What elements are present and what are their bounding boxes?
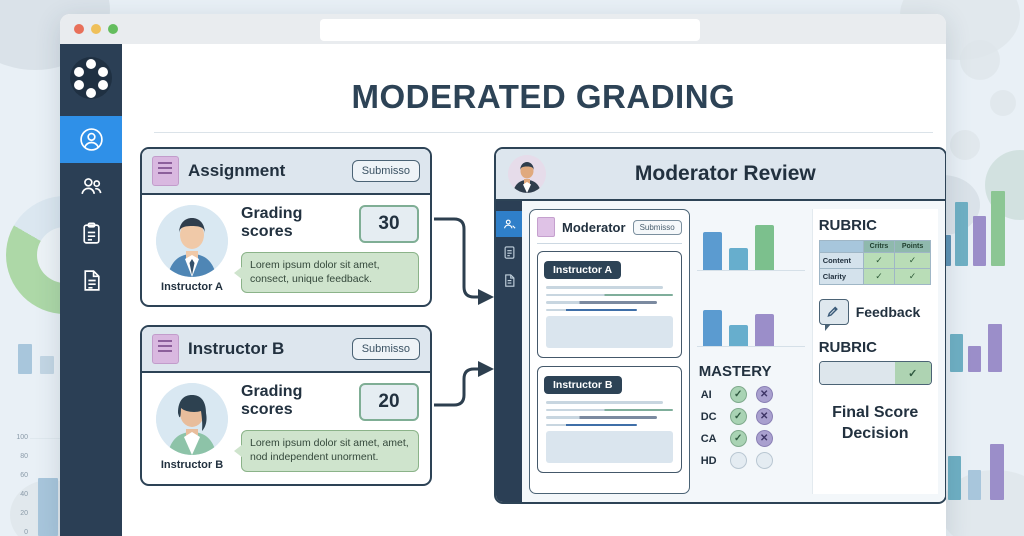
instructor-a-tag: Instructor A [544,261,621,279]
rubric-column: RUBRIC Critrs Points Content [812,209,938,494]
rubric-row-label: Clarity [819,269,863,285]
rubric-cell[interactable]: ✓ [895,253,930,269]
assignment-card-header: Assignment Submisso [142,149,430,195]
pencil-comment-icon [819,299,849,325]
rubric-cell[interactable]: ✓ [895,269,930,285]
mastery-key: HD [701,455,721,467]
assignment-doc-icon [152,334,179,364]
bg-bar-chart-left-small [16,330,66,374]
mastery-check-icon[interactable]: ✓ [730,386,747,403]
moderator-doc-icon [537,217,555,237]
feedback-label: Feedback [856,304,921,320]
content-block [546,316,673,348]
final-score-line2: Decision [819,424,932,445]
assignment-card-title: Assignment [188,161,343,181]
rubric-bar-track [820,362,895,384]
table-row: Clarity ✓ ✓ [819,269,930,285]
maximize-window-dot[interactable] [108,24,118,34]
table-header-row: Critrs Points [819,241,930,253]
bar [729,325,748,346]
mastery-row: DC ✓ ✕ [697,408,805,425]
instructor-name: Instructor A [153,281,231,293]
instructor-a-review-entry[interactable]: Instructor A [537,251,682,358]
text-lines [546,401,673,426]
moderator-card: Moderator Submisso Instructor A [529,209,690,494]
rubric-cell[interactable]: ✓ [863,269,895,285]
mastery-row: AI ✓ ✕ [697,386,805,403]
title-divider [154,132,933,133]
feedback-bubble: Lorem ipsum dolor sit amet, amet, nod in… [241,430,419,471]
rubric-table: Critrs Points Content ✓ ✓ [819,240,931,285]
moderator-inner-sidebar [496,201,522,502]
browser-window: MODERATED GRADING Assignment Submisso [60,14,946,536]
avatar [156,205,228,277]
main-content: MODERATED GRADING Assignment Submisso [122,44,946,536]
instructor-cards-column: Assignment Submisso [140,147,432,504]
rubric-col-blank [819,241,863,253]
mastery-row: CA ✓ ✕ [697,430,805,447]
bg-bar-chart-right-lower [948,310,1018,372]
mastery-cross-icon[interactable]: ✕ [756,430,773,447]
mastery-check-icon[interactable] [730,452,747,469]
bg-blob [950,130,980,160]
rubric-progress-bar[interactable]: ✓ [819,361,932,385]
moderator-avatar-icon [508,155,546,193]
mastery-check-icon[interactable]: ✓ [730,430,747,447]
sidebar-item-profile[interactable] [60,116,122,163]
bar [755,225,774,270]
bg-bar-chart-right-bottom [946,430,1016,500]
rubric-row-label: Content [819,253,863,269]
mastery-key: CA [701,433,721,445]
submission-badge[interactable]: Submisso [352,160,420,182]
avatar [156,383,228,455]
instructor-b-tag: Instructor B [544,376,622,394]
bg-blob [990,90,1016,116]
grading-scores-label: Grading scores [241,383,349,418]
table-row: Content ✓ ✓ [819,253,930,269]
mini-bar-chart-2 [697,285,805,347]
inner-sidebar-item-review[interactable] [496,211,522,237]
sidebar-item-people[interactable] [60,163,122,210]
instructor-b-card-title: Instructor B [188,339,343,359]
sidebar-item-assignments[interactable] [60,210,122,257]
app-sidebar [60,44,122,536]
rubric-bar-title: RUBRIC [819,339,932,356]
moderator-card-title: Moderator [562,220,626,235]
text-lines [546,286,673,311]
bg-blob [960,40,1000,80]
charts-mastery-column: MASTERY AI ✓ ✕ DC ✓ ✕ [697,209,805,494]
bar [729,248,748,270]
bg-bar-chart-left: 100806040200 [8,430,68,536]
mastery-key: DC [701,411,721,423]
inner-sidebar-item-document-lines[interactable] [496,267,522,293]
mastery-cross-icon[interactable]: ✕ [756,386,773,403]
window-titlebar [60,14,946,44]
inner-sidebar-item-document[interactable] [496,239,522,265]
feedback-row[interactable]: Feedback [819,299,932,325]
rubric-cell[interactable]: ✓ [863,253,895,269]
instructor-b-card[interactable]: Instructor B Submisso [140,325,432,485]
mastery-cross-icon[interactable] [756,452,773,469]
sidebar-item-documents[interactable] [60,257,122,304]
instructor-b-review-entry[interactable]: Instructor B [537,366,682,473]
final-score-line1: Final Score [819,403,932,424]
close-window-dot[interactable] [74,24,84,34]
mastery-row: HD [697,452,805,469]
score-value[interactable]: 30 [359,205,419,243]
mastery-cross-icon[interactable]: ✕ [756,408,773,425]
assignment-doc-icon [152,156,179,186]
address-bar[interactable] [320,19,700,41]
network-logo-icon[interactable] [69,56,113,100]
rubric-col-criteria: Critrs [863,241,895,253]
mastery-key: AI [701,389,721,401]
instructor-a-avatar-block: Instructor A [153,205,231,293]
instructor-b-avatar-block: Instructor B [153,383,231,471]
rubric-title: RUBRIC [819,217,932,234]
moderator-review-panel: Moderator Review [494,147,946,504]
assignment-card[interactable]: Assignment Submisso [140,147,432,307]
final-score-decision: Final Score Decision [819,403,932,445]
mini-bar-chart-1 [697,209,805,271]
bar [755,314,774,346]
bg-bar-chart-right-upper [938,188,1014,266]
bar [703,232,722,270]
flow-arrows [432,147,494,504]
bar [703,310,722,346]
rubric-bar-check-icon: ✓ [895,362,931,384]
mastery-title: MASTERY [699,363,805,380]
submission-badge[interactable]: Submisso [352,338,420,360]
instructor-name: Instructor B [153,459,231,471]
moderator-submission-badge[interactable]: Submisso [633,220,682,235]
grading-scores-label: Grading scores [241,205,349,240]
page-title: MODERATED GRADING [140,78,946,116]
minimize-window-dot[interactable] [91,24,101,34]
moderator-review-title: Moderator Review [556,162,933,186]
score-value[interactable]: 20 [359,383,419,421]
moderator-card-header: Moderator Submisso [537,217,682,244]
mastery-check-icon[interactable]: ✓ [730,408,747,425]
instructor-b-card-header: Instructor B Submisso [142,327,430,373]
feedback-bubble: Lorem ipsum dolor sit amet, consect, uni… [241,252,419,293]
rubric-col-points: Points [895,241,930,253]
content-block [546,431,673,463]
moderator-review-header: Moderator Review [496,149,945,201]
